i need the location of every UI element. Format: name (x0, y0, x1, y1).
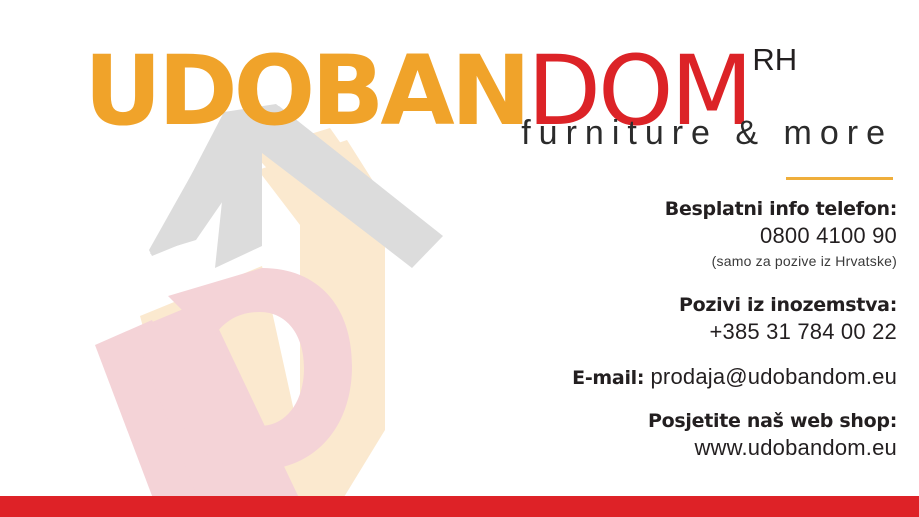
tagline: furniture & more (521, 114, 893, 153)
orange-divider-rule (786, 177, 893, 180)
intl-phone-label: Pozivi iz inozemstva: (357, 292, 897, 318)
email-label: E-mail: (572, 367, 650, 389)
free-phone-value[interactable]: 0800 4100 90 (357, 222, 897, 250)
free-phone-note: (samo za pozive iz Hrvatske) (357, 250, 897, 272)
email-value[interactable]: prodaja@udobandom.eu (650, 364, 897, 389)
webshop-label: Posjetite naš web shop: (357, 408, 897, 434)
bottom-red-bar (0, 496, 919, 517)
free-phone-label: Besplatni info telefon: (357, 196, 897, 222)
logo-text-udoban: UDOBAN (84, 35, 527, 147)
spacer (357, 272, 897, 292)
spacer (357, 391, 897, 408)
intl-phone-value[interactable]: +385 31 784 00 22 (357, 318, 897, 346)
logo-superscript-rh: RH (752, 42, 797, 77)
pink-letter-b-shape (95, 268, 352, 517)
logo: UDOBANDOMRH (0, 12, 919, 122)
cream-letter-shape (140, 128, 385, 517)
contact-block: Besplatni info telefon: 0800 4100 90 (sa… (357, 196, 897, 462)
email-row: E-mail: prodaja@udobandom.eu (357, 363, 897, 391)
business-card: UDOBANDOMRH furniture & more Besplatni i… (0, 0, 919, 517)
spacer (357, 346, 897, 363)
webshop-value[interactable]: www.udobandom.eu (357, 434, 897, 462)
